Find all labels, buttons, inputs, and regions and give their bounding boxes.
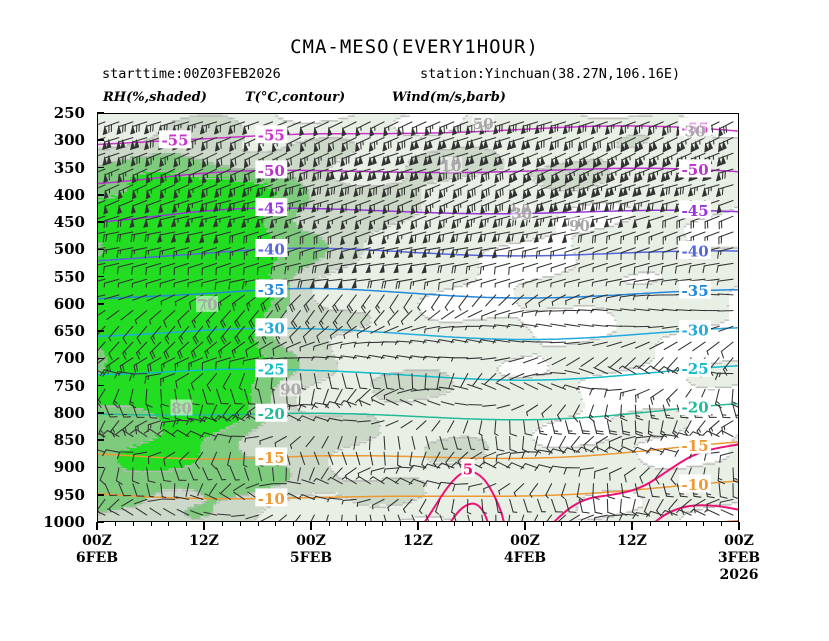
x-axis-label-year: 2026: [694, 567, 784, 584]
y-axis-tick: [97, 521, 104, 523]
time-height-cross-section: -55-55-50-50-45-45-40-40-35-35-30-30-25-…: [97, 113, 739, 522]
x-axis-tick-minor: [293, 522, 294, 526]
x-axis-tick-minor: [472, 522, 473, 526]
y-axis-label: 500: [54, 240, 85, 258]
y-axis-tick: [97, 276, 104, 278]
x-axis-tick-major: [524, 522, 526, 530]
x-axis-label-time: 00Z: [266, 533, 356, 550]
x-axis-tick-minor: [347, 522, 348, 526]
y-axis-tick: [97, 139, 104, 141]
y-axis-label: 250: [54, 104, 85, 122]
x-axis-tick-minor: [579, 522, 580, 526]
x-axis-tick-major: [631, 522, 633, 530]
starttime-label: starttime:00Z03FEB2026: [102, 66, 281, 82]
x-axis-tick-minor: [561, 522, 562, 526]
x-axis-tick-minor: [275, 522, 276, 526]
x-axis-label-date: 5FEB: [266, 550, 356, 567]
x-axis-tick-minor: [668, 522, 669, 526]
x-axis-label-date: 3FEB: [694, 550, 784, 567]
x-axis-label-time: 00Z: [694, 533, 784, 550]
x-axis-tick-major: [203, 522, 205, 530]
x-axis-tick-minor: [489, 522, 490, 526]
y-axis-tick: [97, 249, 104, 251]
y-axis-tick: [97, 330, 104, 332]
y-axis-label: 1000: [43, 513, 85, 531]
y-axis-label: 350: [54, 159, 85, 177]
x-axis-tick-minor: [240, 522, 241, 526]
x-axis-tick-minor: [614, 522, 615, 526]
y-axis-label: 300: [54, 131, 85, 149]
x-axis-tick-minor: [168, 522, 169, 526]
y-axis-label: 750: [54, 377, 85, 395]
y-axis-label: 850: [54, 431, 85, 449]
x-axis-label-time: 00Z: [52, 533, 142, 550]
station-label: station:Yinchuan(38.27N,106.16E): [420, 66, 680, 82]
x-axis-tick-minor: [365, 522, 366, 526]
x-axis-tick-minor: [703, 522, 704, 526]
page-title: CMA-MESO(EVERY1HOUR): [0, 36, 829, 58]
x-axis-tick-minor: [382, 522, 383, 526]
legend-wind: Wind(m/s,barb): [392, 90, 506, 105]
x-axis-tick-minor: [454, 522, 455, 526]
x-axis-tick-minor: [686, 522, 687, 526]
x-axis-tick-minor: [151, 522, 152, 526]
y-axis-tick: [97, 112, 104, 114]
x-axis-label-group: 00Z3FEB2026: [694, 533, 784, 584]
x-axis-tick-major: [96, 522, 98, 530]
x-axis-label-time: 00Z: [480, 533, 570, 550]
x-axis-tick-major: [310, 522, 312, 530]
y-axis-tick: [97, 358, 104, 360]
x-axis-label-date: 4FEB: [480, 550, 570, 567]
x-axis-tick-minor: [329, 522, 330, 526]
x-axis-tick-minor: [222, 522, 223, 526]
legend-rh: RH(%,shaded): [103, 90, 207, 105]
y-axis-tick: [97, 167, 104, 169]
y-axis-label: 800: [54, 404, 85, 422]
y-axis-tick: [97, 494, 104, 496]
y-axis-label: 450: [54, 213, 85, 231]
x-axis-tick-minor: [115, 522, 116, 526]
plot-layers: -55-55-50-50-45-45-40-40-35-35-30-30-25-…: [98, 114, 738, 521]
y-axis-tick: [97, 412, 104, 414]
y-axis-tick: [97, 439, 104, 441]
x-axis-tick-minor: [258, 522, 259, 526]
y-axis-label: 650: [54, 322, 85, 340]
x-axis-tick-major: [738, 522, 740, 530]
y-axis-tick: [97, 303, 104, 305]
legend-temperature: T(°C,contour): [245, 90, 345, 105]
x-axis-label-group: 00Z5FEB: [266, 533, 356, 567]
x-axis-tick-minor: [721, 522, 722, 526]
x-axis-tick-minor: [507, 522, 508, 526]
y-axis-tick: [97, 467, 104, 469]
x-axis-tick-minor: [650, 522, 651, 526]
x-axis-tick-minor: [543, 522, 544, 526]
x-axis-label-group: 00Z6FEB: [52, 533, 142, 567]
x-axis-tick-minor: [436, 522, 437, 526]
x-axis-tick-minor: [400, 522, 401, 526]
x-axis-label-group: 12Z: [587, 533, 677, 550]
y-axis-tick: [97, 385, 104, 387]
y-axis-tick: [97, 194, 104, 196]
x-axis-tick-minor: [133, 522, 134, 526]
y-axis-label: 700: [54, 349, 85, 367]
x-axis-label-group: 12Z: [159, 533, 249, 550]
subheader: starttime:00Z03FEB2026 station:Yinchuan(…: [97, 66, 739, 86]
legend: RH(%,shaded) T(°C,contour) Wind(m/s,barb…: [97, 90, 739, 108]
y-axis-label: 900: [54, 458, 85, 476]
y-axis-label: 400: [54, 186, 85, 204]
x-axis-label-time: 12Z: [587, 533, 677, 550]
x-axis-label-group: 12Z: [373, 533, 463, 550]
contour-label-layer: -55-55-50-50-45-45-40-40-35-35-30-30-25-…: [98, 114, 739, 522]
x-axis-label-date: 6FEB: [52, 550, 142, 567]
x-axis-tick-minor: [596, 522, 597, 526]
x-axis-label-time: 12Z: [373, 533, 463, 550]
x-axis-label-time: 12Z: [159, 533, 249, 550]
x-axis-tick-major: [417, 522, 419, 530]
y-axis-tick: [97, 221, 104, 223]
x-axis-label-group: 00Z4FEB: [480, 533, 570, 567]
y-axis-label: 950: [54, 486, 85, 504]
y-axis-label: 600: [54, 295, 85, 313]
x-axis-tick-minor: [186, 522, 187, 526]
y-axis-label: 550: [54, 268, 85, 286]
